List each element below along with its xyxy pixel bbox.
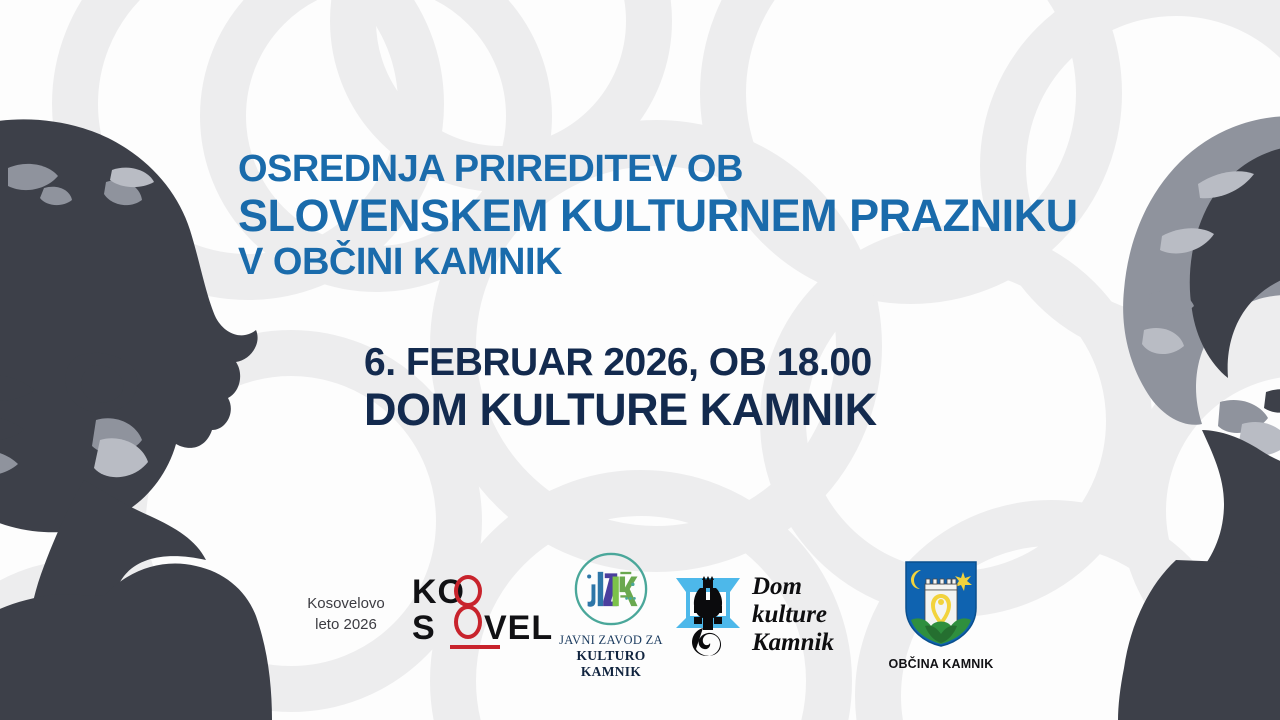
watermark-ring: [0, 560, 252, 720]
dom-kulture-emblem-icon: [672, 572, 744, 658]
kosovelovo-line-2: leto 2026: [290, 615, 402, 635]
portrait-silhouette-left: [0, 0, 330, 720]
jzk-caption-line-2: KULTURO KAMNIK: [550, 648, 672, 680]
kosovel-logo: KO S VEL: [402, 552, 550, 677]
dom-kulture-line-3: Kamnik: [752, 629, 834, 657]
javni-zavod-za-kulturo-kamnik-logo: JAVNI ZAVOD ZA KULTURO KAMNIK: [550, 552, 672, 677]
page-title: OSREDNJA PRIREDITEV OB SLOVENSKEM KULTUR…: [238, 148, 1118, 283]
kosovel-bottom-left-text: S: [412, 609, 435, 648]
headline-line-1: OSREDNJA PRIREDITEV OB: [238, 148, 1118, 191]
headline-line-3: V OBČINI KAMNIK: [238, 241, 1118, 284]
obcina-kamnik-logo: OBČINA KAMNIK: [882, 552, 1000, 677]
headline-line-2: SLOVENSKEM KULTURNEM PRAZNIKU: [238, 191, 1118, 241]
kosovel-underline-icon: [450, 645, 500, 649]
kosovel-figure-eight-icon: [454, 605, 482, 639]
jzk-caption-line-1: JAVNI ZAVOD ZA: [550, 633, 672, 648]
kosovel-bottom-right-text: VEL: [484, 609, 553, 648]
event-date: 6. FEBRUAR 2026, OB 18.00: [364, 342, 1124, 385]
poster-canvas: OSREDNJA PRIREDITEV OB SLOVENSKEM KULTUR…: [0, 0, 1280, 720]
event-details: 6. FEBRUAR 2026, OB 18.00 DOM KULTURE KA…: [364, 342, 1124, 434]
logo-strip: Kosovelovo leto 2026 KO S VEL: [290, 552, 1030, 677]
obcina-caption: OBČINA KAMNIK: [882, 657, 1000, 671]
dom-kulture-line-2: kulture: [752, 601, 834, 629]
dom-kulture-kamnik-logo: Dom kulture Kamnik: [672, 552, 882, 677]
kosovelovo-line-1: Kosovelovo: [290, 594, 402, 614]
dom-kulture-line-1: Dom: [752, 573, 834, 601]
kosovel-figure-eight-icon: [454, 575, 482, 607]
obcina-kamnik-coat-of-arms-icon: [901, 558, 981, 650]
event-venue: DOM KULTURE KAMNIK: [364, 385, 1124, 435]
watermark-ring: [1120, 330, 1280, 692]
jzk-monogram-icon: [572, 550, 650, 628]
kosovelovo-leto-block: Kosovelovo leto 2026: [290, 552, 402, 677]
